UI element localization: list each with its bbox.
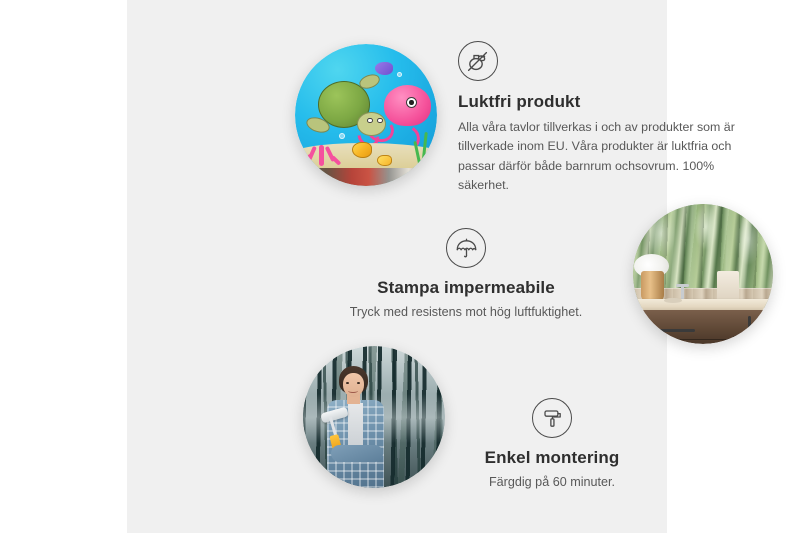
octopus-eye [406,97,417,108]
yellow-fish-icon [377,155,391,166]
wood-vanity-cabinet [639,310,773,344]
crossed-arms [331,445,382,462]
face [343,373,364,397]
feature-waterproof: Stampa impermeabile Tryck med resistens … [335,228,597,323]
photo-installer-forest [303,346,445,488]
feature-panel-page: Luktfri produkt Alla våra tavlor tillver… [0,0,800,533]
no-odor-spray-bottle-icon [458,41,498,81]
content-panel: Luktfri produkt Alla våra tavlor tillver… [127,0,667,533]
photo-ocean-inner [295,44,437,186]
faucet-icon [681,284,684,301]
feature-title: Luktfri produkt [458,91,758,112]
gold-vase [641,271,663,302]
photo-bathroom-wallpaper [633,204,773,344]
smile [348,389,358,393]
eye [357,382,360,384]
cabinet-seam [733,336,735,344]
cabinet-seam [644,339,730,341]
drawer-handle [658,329,694,332]
photo-installer-inner [303,346,445,488]
feature-title: Enkel montering [427,447,677,468]
feature-description: Färgdig på 60 minuter. [427,473,677,493]
paint-roller-icon [532,398,572,438]
feature-description: Tryck med resistens mot hög luftfuktighe… [335,303,597,323]
feature-description: Alla våra tavlor tillverkas i och av pro… [458,118,758,195]
cabinet-handle [748,316,751,334]
turtle-head [357,112,385,136]
feature-title: Stampa impermeabile [335,277,597,298]
coral-icon [304,132,341,166]
yellow-fish-icon [352,142,372,158]
eye [346,382,349,384]
umbrella-icon [446,228,486,268]
feature-easy-mounting: Enkel montering Färgdig på 60 minuter. [427,398,677,493]
photo-bathroom-inner [633,204,773,344]
photo-ocean-mural [295,44,437,186]
ocean-foreground-strip [295,168,437,186]
soap-dispenser [717,271,739,302]
feature-odorless: Luktfri produkt Alla våra tavlor tillver… [458,41,758,195]
inner-shirt [348,403,362,446]
